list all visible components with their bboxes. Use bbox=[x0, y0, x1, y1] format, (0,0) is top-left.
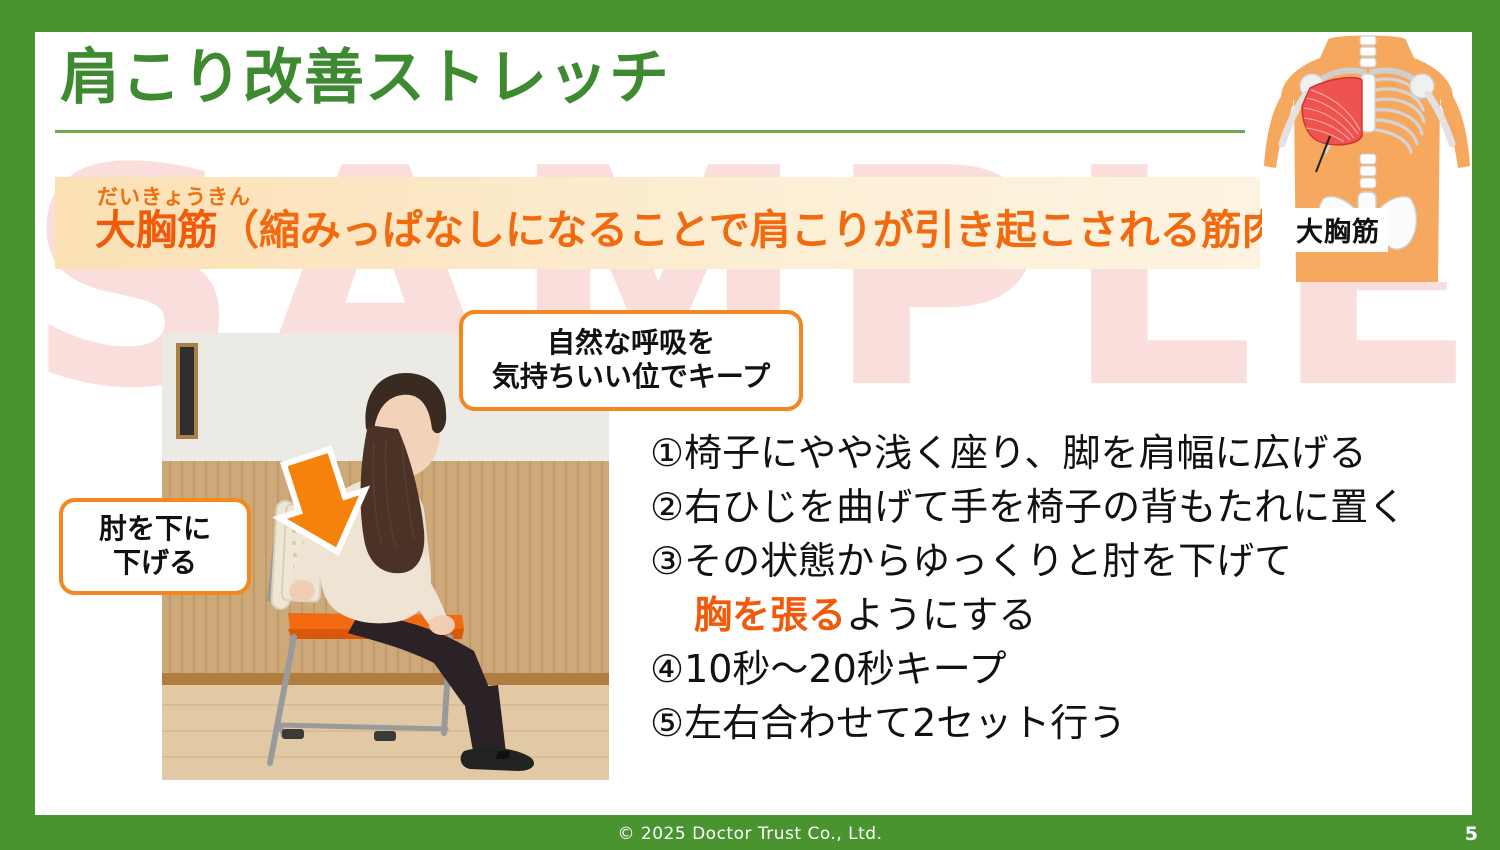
item-text: その状態からゆっくりと肘を下げて bbox=[684, 539, 1292, 583]
item-text: 椅子にやや浅く座り、脚を肩幅に広げる bbox=[684, 431, 1366, 475]
slide-root: SAMPLE 肩こり改善ストレッチ だいきょうきん 大胸筋（縮みっぱなしになるこ… bbox=[0, 0, 1500, 850]
copyright-text: © 2025 Doctor Trust Co., Ltd. bbox=[0, 824, 1500, 844]
bubble-elbow-line1: 肘を下に bbox=[71, 512, 239, 546]
item-text: 左右合わせて2セット行う bbox=[684, 701, 1126, 745]
item-text: ようにする bbox=[846, 593, 1036, 637]
title-underline bbox=[55, 130, 1245, 133]
muscle-banner: だいきょうきん 大胸筋（縮みっぱなしになることで肩こりが引き起こされる筋肉）のス… bbox=[55, 177, 1260, 269]
item-text: 10秒〜20秒キープ bbox=[684, 647, 1006, 691]
item-highlight: 胸を張る bbox=[694, 593, 846, 637]
item-number: ② bbox=[650, 485, 684, 529]
item-number: ④ bbox=[650, 647, 684, 691]
list-item: ⑤左右合わせて2セット行う bbox=[650, 697, 1450, 751]
item-number: ① bbox=[650, 431, 684, 475]
list-item: 胸を張るようにする bbox=[650, 589, 1450, 643]
anatomy-label: 大胸筋 bbox=[1288, 208, 1388, 252]
bubble-elbow-tip: 肘を下に 下げる bbox=[59, 498, 251, 595]
item-number: ③ bbox=[650, 539, 684, 583]
bubble-breathing-line1: 自然な呼吸を bbox=[473, 326, 789, 360]
page-title: 肩こり改善ストレッチ bbox=[60, 44, 670, 113]
item-number: ⑤ bbox=[650, 701, 684, 745]
list-item: ①椅子にやや浅く座り、脚を肩幅に広げる bbox=[650, 427, 1450, 481]
banner-inner: だいきょうきん 大胸筋（縮みっぱなしになることで肩こりが引き起こされる筋肉）のス… bbox=[55, 177, 1260, 269]
bubble-breathing-tip: 自然な呼吸を 気持ちいい位でキープ bbox=[459, 310, 803, 411]
list-item: ②右ひじを曲げて手を椅子の背もたれに置く bbox=[650, 481, 1450, 535]
list-item: ③その状態からゆっくりと肘を下げて bbox=[650, 535, 1450, 589]
instruction-list: ①椅子にやや浅く座り、脚を肩幅に広げる ②右ひじを曲げて手を椅子の背もたれに置く… bbox=[650, 427, 1450, 751]
bubble-elbow-line2: 下げる bbox=[71, 546, 239, 580]
banner-muscle-name: 大胸筋 bbox=[95, 206, 218, 254]
item-text: 右ひじを曲げて手を椅子の背もたれに置く bbox=[684, 485, 1406, 529]
bubble-breathing-line2: 気持ちいい位でキープ bbox=[473, 360, 789, 394]
page-number: 5 bbox=[1465, 823, 1478, 845]
slide-page: SAMPLE 肩こり改善ストレッチ だいきょうきん 大胸筋（縮みっぱなしになるこ… bbox=[35, 32, 1472, 815]
banner-description: （縮みっぱなしになることで肩こりが引き起こされる筋肉） bbox=[218, 206, 1324, 254]
list-item: ④10秒〜20秒キープ bbox=[650, 643, 1450, 697]
